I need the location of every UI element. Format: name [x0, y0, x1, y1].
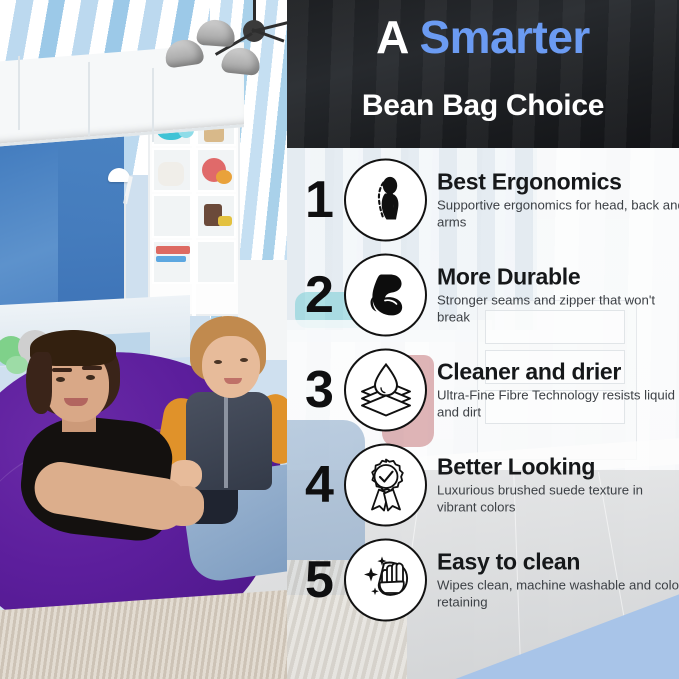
- woman-eyebrow: [52, 368, 72, 372]
- woman-eye: [86, 375, 95, 380]
- shelf-cell: [196, 240, 236, 284]
- feature-text: Cleaner and drier Ultra-Fine Fibre Techn…: [437, 359, 679, 420]
- cabinet-seam: [88, 62, 90, 136]
- features-panel: A Smarter Bean Bag Choice 1 Best Ergonom…: [287, 0, 679, 679]
- toy-item: [156, 256, 186, 262]
- woman-hand: [162, 486, 204, 526]
- feature-row-3: 3 Cleaner and drier Ultra-Fine Fib: [287, 342, 679, 437]
- lifestyle-photo: [0, 0, 287, 679]
- feature-row-1: 1 Best Ergonomics Supportive ergonomics …: [287, 152, 679, 247]
- feature-description: Luxurious brushed suede texture in vibra…: [437, 483, 679, 516]
- toy-item: [218, 216, 232, 226]
- plush-toy: [6, 356, 28, 374]
- posture-person-icon: [344, 158, 427, 241]
- headline-primary: A Smarter: [287, 14, 679, 60]
- child-eye: [214, 360, 222, 364]
- woman-eye: [56, 377, 65, 382]
- feature-text: Best Ergonomics Supportive ergonomics fo…: [437, 169, 679, 230]
- toy-item: [156, 246, 190, 254]
- cabinet-seam: [18, 56, 20, 130]
- wall-lamp-cord: [124, 196, 126, 314]
- headline-subtitle: Bean Bag Choice: [287, 91, 679, 121]
- feature-description: Wipes clean, machine washable and color …: [437, 578, 679, 611]
- header-banner: A Smarter Bean Bag Choice: [287, 0, 679, 148]
- feature-title: Better Looking: [437, 454, 679, 480]
- feature-title: Easy to clean: [437, 549, 679, 575]
- feature-number: 1: [305, 174, 334, 226]
- woman-hair-side: [26, 352, 52, 414]
- water-droplet-layers-icon: [344, 348, 427, 431]
- feature-row-4: 4 Better Looking Luxurious brushed s: [287, 437, 679, 532]
- feature-number: 4: [305, 459, 334, 511]
- product-feature-poster: A Smarter Bean Bag Choice 1 Best Ergonom…: [0, 0, 679, 679]
- feature-title: More Durable: [437, 264, 679, 290]
- feature-description: Supportive ergonomics for head, back and…: [437, 198, 679, 231]
- woman-eyebrow: [82, 366, 102, 370]
- child-face: [202, 336, 260, 398]
- shelf-cell: [152, 194, 192, 238]
- feature-row-2: 2 More Durable Stronger seams and zipper…: [287, 247, 679, 342]
- feature-title: Cleaner and drier: [437, 359, 679, 385]
- feature-number: 5: [305, 554, 334, 606]
- award-ribbon-check-icon: [344, 443, 427, 526]
- flexed-bicep-icon: [344, 253, 427, 336]
- feature-title: Best Ergonomics: [437, 169, 679, 195]
- headline-article: A: [376, 11, 419, 63]
- feature-number: 3: [305, 364, 334, 416]
- feature-number: 2: [305, 269, 334, 321]
- pendant-light-rod: [253, 0, 256, 22]
- headline-highlight: Smarter: [419, 11, 589, 63]
- blue-accent-wall-2: [58, 120, 124, 320]
- feature-text: Easy to clean Wipes clean, machine washa…: [437, 549, 679, 610]
- child-eye: [240, 358, 248, 362]
- feature-list: 1 Best Ergonomics Supportive ergonomics …: [287, 152, 679, 627]
- cabinet-seam: [152, 68, 154, 142]
- feature-description: Stronger seams and zipper that won't bre…: [437, 293, 679, 326]
- feature-row-5: 5: [287, 532, 679, 627]
- toy-item: [216, 170, 232, 184]
- vest-zipper: [224, 396, 228, 488]
- toy-item: [158, 162, 184, 186]
- feature-text: More Durable Stronger seams and zipper t…: [437, 264, 679, 325]
- feature-text: Better Looking Luxurious brushed suede t…: [437, 454, 679, 515]
- wiping-hand-sparkle-icon: [344, 538, 427, 621]
- feature-description: Ultra-Fine Fibre Technology resists liqu…: [437, 388, 679, 421]
